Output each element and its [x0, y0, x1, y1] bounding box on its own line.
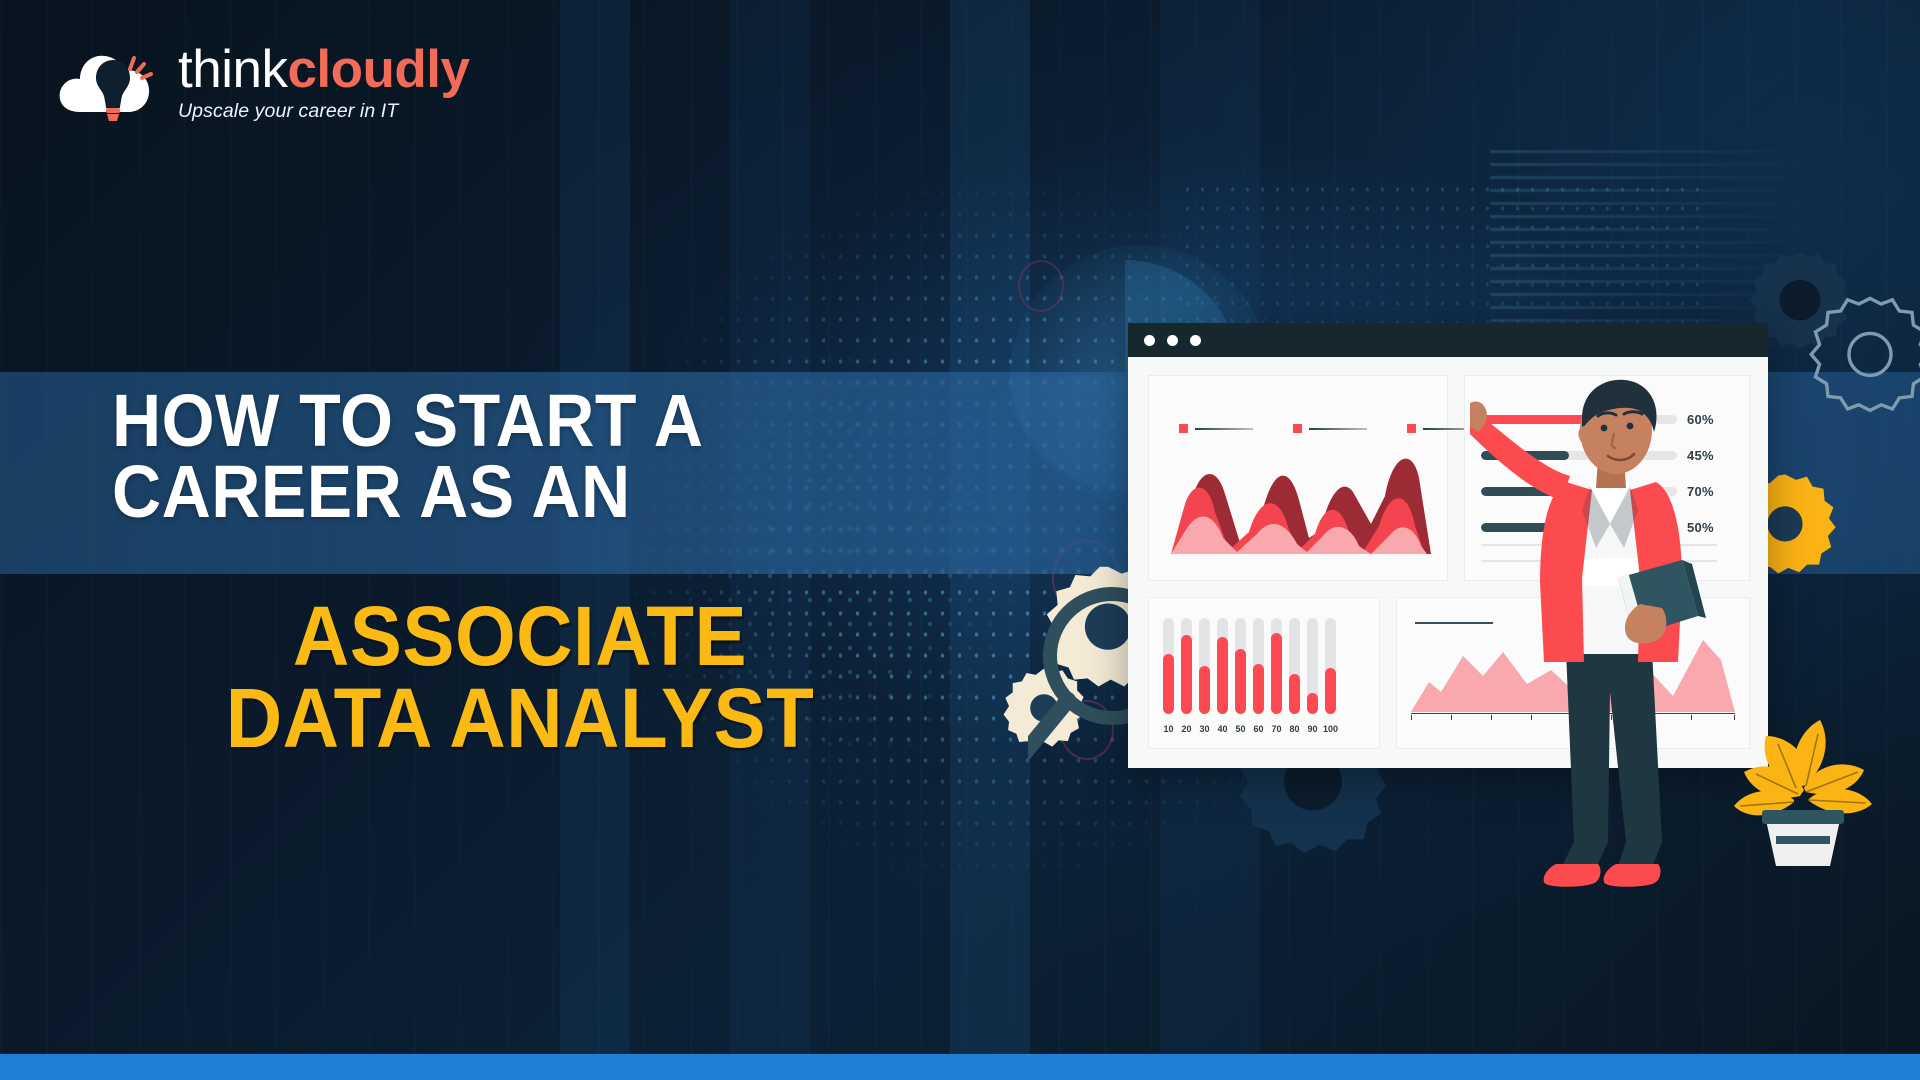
headline-line-1: HOW TO START A: [112, 385, 866, 456]
bar-axis-label: 100: [1323, 724, 1338, 734]
area-chart-panel: [1148, 375, 1448, 581]
bar-axis-label: 20: [1179, 724, 1194, 734]
axis-tick: [1411, 715, 1412, 720]
presenter-character: [1470, 372, 1730, 892]
wordmark-cloudly: cloudly: [287, 40, 469, 99]
headline-line-2: CAREER AS AN: [112, 456, 866, 527]
legend-item: [1293, 424, 1367, 433]
bar-track: [1289, 618, 1300, 714]
legend-swatch-icon: [1179, 424, 1188, 433]
background-ring-3: [1018, 260, 1064, 312]
window-dot-close[interactable]: [1144, 335, 1155, 346]
bar-axis-label: 10: [1161, 724, 1176, 734]
window-dot-maximize[interactable]: [1190, 335, 1201, 346]
brand-tagline: Upscale your career in IT: [178, 100, 469, 123]
area-chart-legend: [1179, 424, 1481, 433]
banner-canvas: thinkcloudly Upscale your career in IT H…: [0, 0, 1920, 1080]
legend-label-placeholder: [1309, 428, 1367, 430]
bar-track: [1217, 618, 1228, 714]
brand-wordmark: thinkcloudly: [178, 44, 469, 96]
wordmark-think: think: [178, 40, 287, 99]
bottom-accent-strip: [0, 1054, 1920, 1080]
legend-item: [1179, 424, 1253, 433]
area-chart-graphic: [1157, 434, 1441, 556]
axis-tick: [1451, 715, 1452, 720]
bar-axis-label: 70: [1269, 724, 1284, 734]
bar-chart-bars: [1163, 618, 1336, 714]
bar-axis-label: 90: [1305, 724, 1320, 734]
bar-track: [1253, 618, 1264, 714]
brand-logo[interactable]: thinkcloudly Upscale your career in IT: [56, 36, 469, 128]
bar-track: [1181, 618, 1192, 714]
bar-track: [1235, 618, 1246, 714]
bar-axis-label: 60: [1251, 724, 1266, 734]
page-subtitle: ASSOCIATE DATA ANALYST: [102, 595, 939, 760]
bar-chart-axis-labels: 10 20 30 40 50 60 70 80 90 100: [1161, 724, 1338, 734]
window-dot-minimize[interactable]: [1167, 335, 1178, 346]
subhead-line-1: ASSOCIATE: [102, 595, 939, 677]
bar-axis-label: 80: [1287, 724, 1302, 734]
potted-plant-icon: [1700, 640, 1900, 870]
legend-label-placeholder: [1195, 428, 1253, 430]
bar-chart-panel: 10 20 30 40 50 60 70 80 90 100: [1148, 597, 1380, 749]
bar-track: [1199, 618, 1210, 714]
page-title: HOW TO START A CAREER AS AN: [112, 385, 866, 527]
gear-outline-stroke-icon: [1800, 290, 1920, 430]
bar-track: [1307, 618, 1318, 714]
bar-track: [1163, 618, 1174, 714]
bar-axis-label: 40: [1215, 724, 1230, 734]
browser-titlebar: [1128, 323, 1768, 357]
cloud-lightbulb-icon: [56, 36, 164, 128]
bar-track: [1271, 618, 1282, 714]
legend-swatch-icon: [1407, 424, 1416, 433]
bar-track: [1325, 618, 1336, 714]
legend-swatch-icon: [1293, 424, 1302, 433]
bar-axis-label: 50: [1233, 724, 1248, 734]
bar-axis-label: 30: [1197, 724, 1212, 734]
subhead-line-2: DATA ANALYST: [102, 677, 939, 759]
